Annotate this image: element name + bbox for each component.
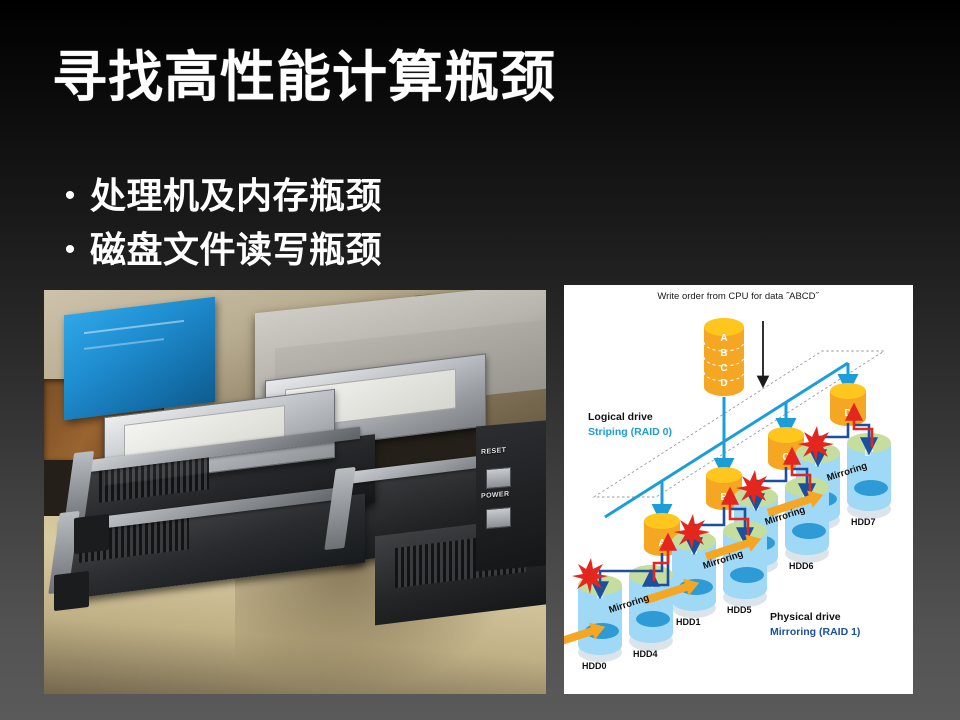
server-hardware-photo: RESET POWER [44,290,546,694]
disk-data-hdd0: A [597,590,604,601]
logical-segment-c: C [720,363,727,374]
physical-drive-label: Physical drive [770,611,841,623]
physical-disk-hdd0: A HDD0 [578,575,622,671]
page-title: 寻找高性能计算瓶颈 [52,48,912,107]
photo-blue-bag [64,297,215,421]
bullet-marker-icon: • [50,227,90,273]
physical-disk-hdd7: D' HDD7 [847,433,891,527]
disk-name-hdd0: HDD0 [582,661,607,671]
photo-reset-button [486,467,511,489]
physical-disk-hdd6: C' HDD6 [785,477,829,571]
list-item: • 处理机及内存瓶颈 [50,173,610,219]
disk-name-hdd1: HDD1 [676,617,701,627]
disk-data-hdd7: D' [864,448,873,459]
disk-name-hdd5: HDD5 [727,605,752,615]
diagram-heading: Write order from CPU for data ˝ABCD˝ [657,291,819,302]
bullet-list: • 处理机及内存瓶颈 • 磁盘文件读写瓶颈 [50,173,610,281]
logical-segment-a: A [720,333,727,344]
stripe-label-c: C [782,452,789,463]
raid-diagram-svg: Write order from CPU for data ˝ABCD˝ A B… [564,285,913,694]
bullet-text: 处理机及内存瓶颈 [90,173,382,219]
disk-name-hdd6: HDD6 [789,561,814,571]
photo-tray-latch [74,514,109,555]
photo-tray-latch [54,571,89,612]
disk-name-hdd4: HDD4 [633,649,658,659]
logical-segment-d: D [720,378,727,389]
mirroring-raid1-label: Mirroring (RAID 1) [770,626,860,638]
striping-raid0-label: Striping (RAID 0) [588,426,672,438]
physical-disk-hdd1: B HDD1 [672,531,716,627]
stripe-label-d: D [844,408,851,419]
bullet-marker-icon: • [50,173,90,219]
list-item: • 磁盘文件读写瓶颈 [50,227,610,273]
photo-power-button [486,507,511,529]
logical-segment-b: B [720,348,727,359]
disk-name-hdd7: HDD7 [851,517,876,527]
logical-drive-label: Logical drive [588,411,653,423]
stripe-label-b: B [720,492,727,503]
raid-diagram-panel: Write order from CPU for data ˝ABCD˝ A B… [564,285,913,694]
stripe-label-a: A [658,538,665,549]
stripe-cylinder-d: D [830,383,866,426]
logical-drive-cylinder: A B C D [704,318,744,396]
physical-disk-hdd5: B' HDD5 [723,521,767,615]
bullet-text: 磁盘文件读写瓶颈 [90,227,382,273]
